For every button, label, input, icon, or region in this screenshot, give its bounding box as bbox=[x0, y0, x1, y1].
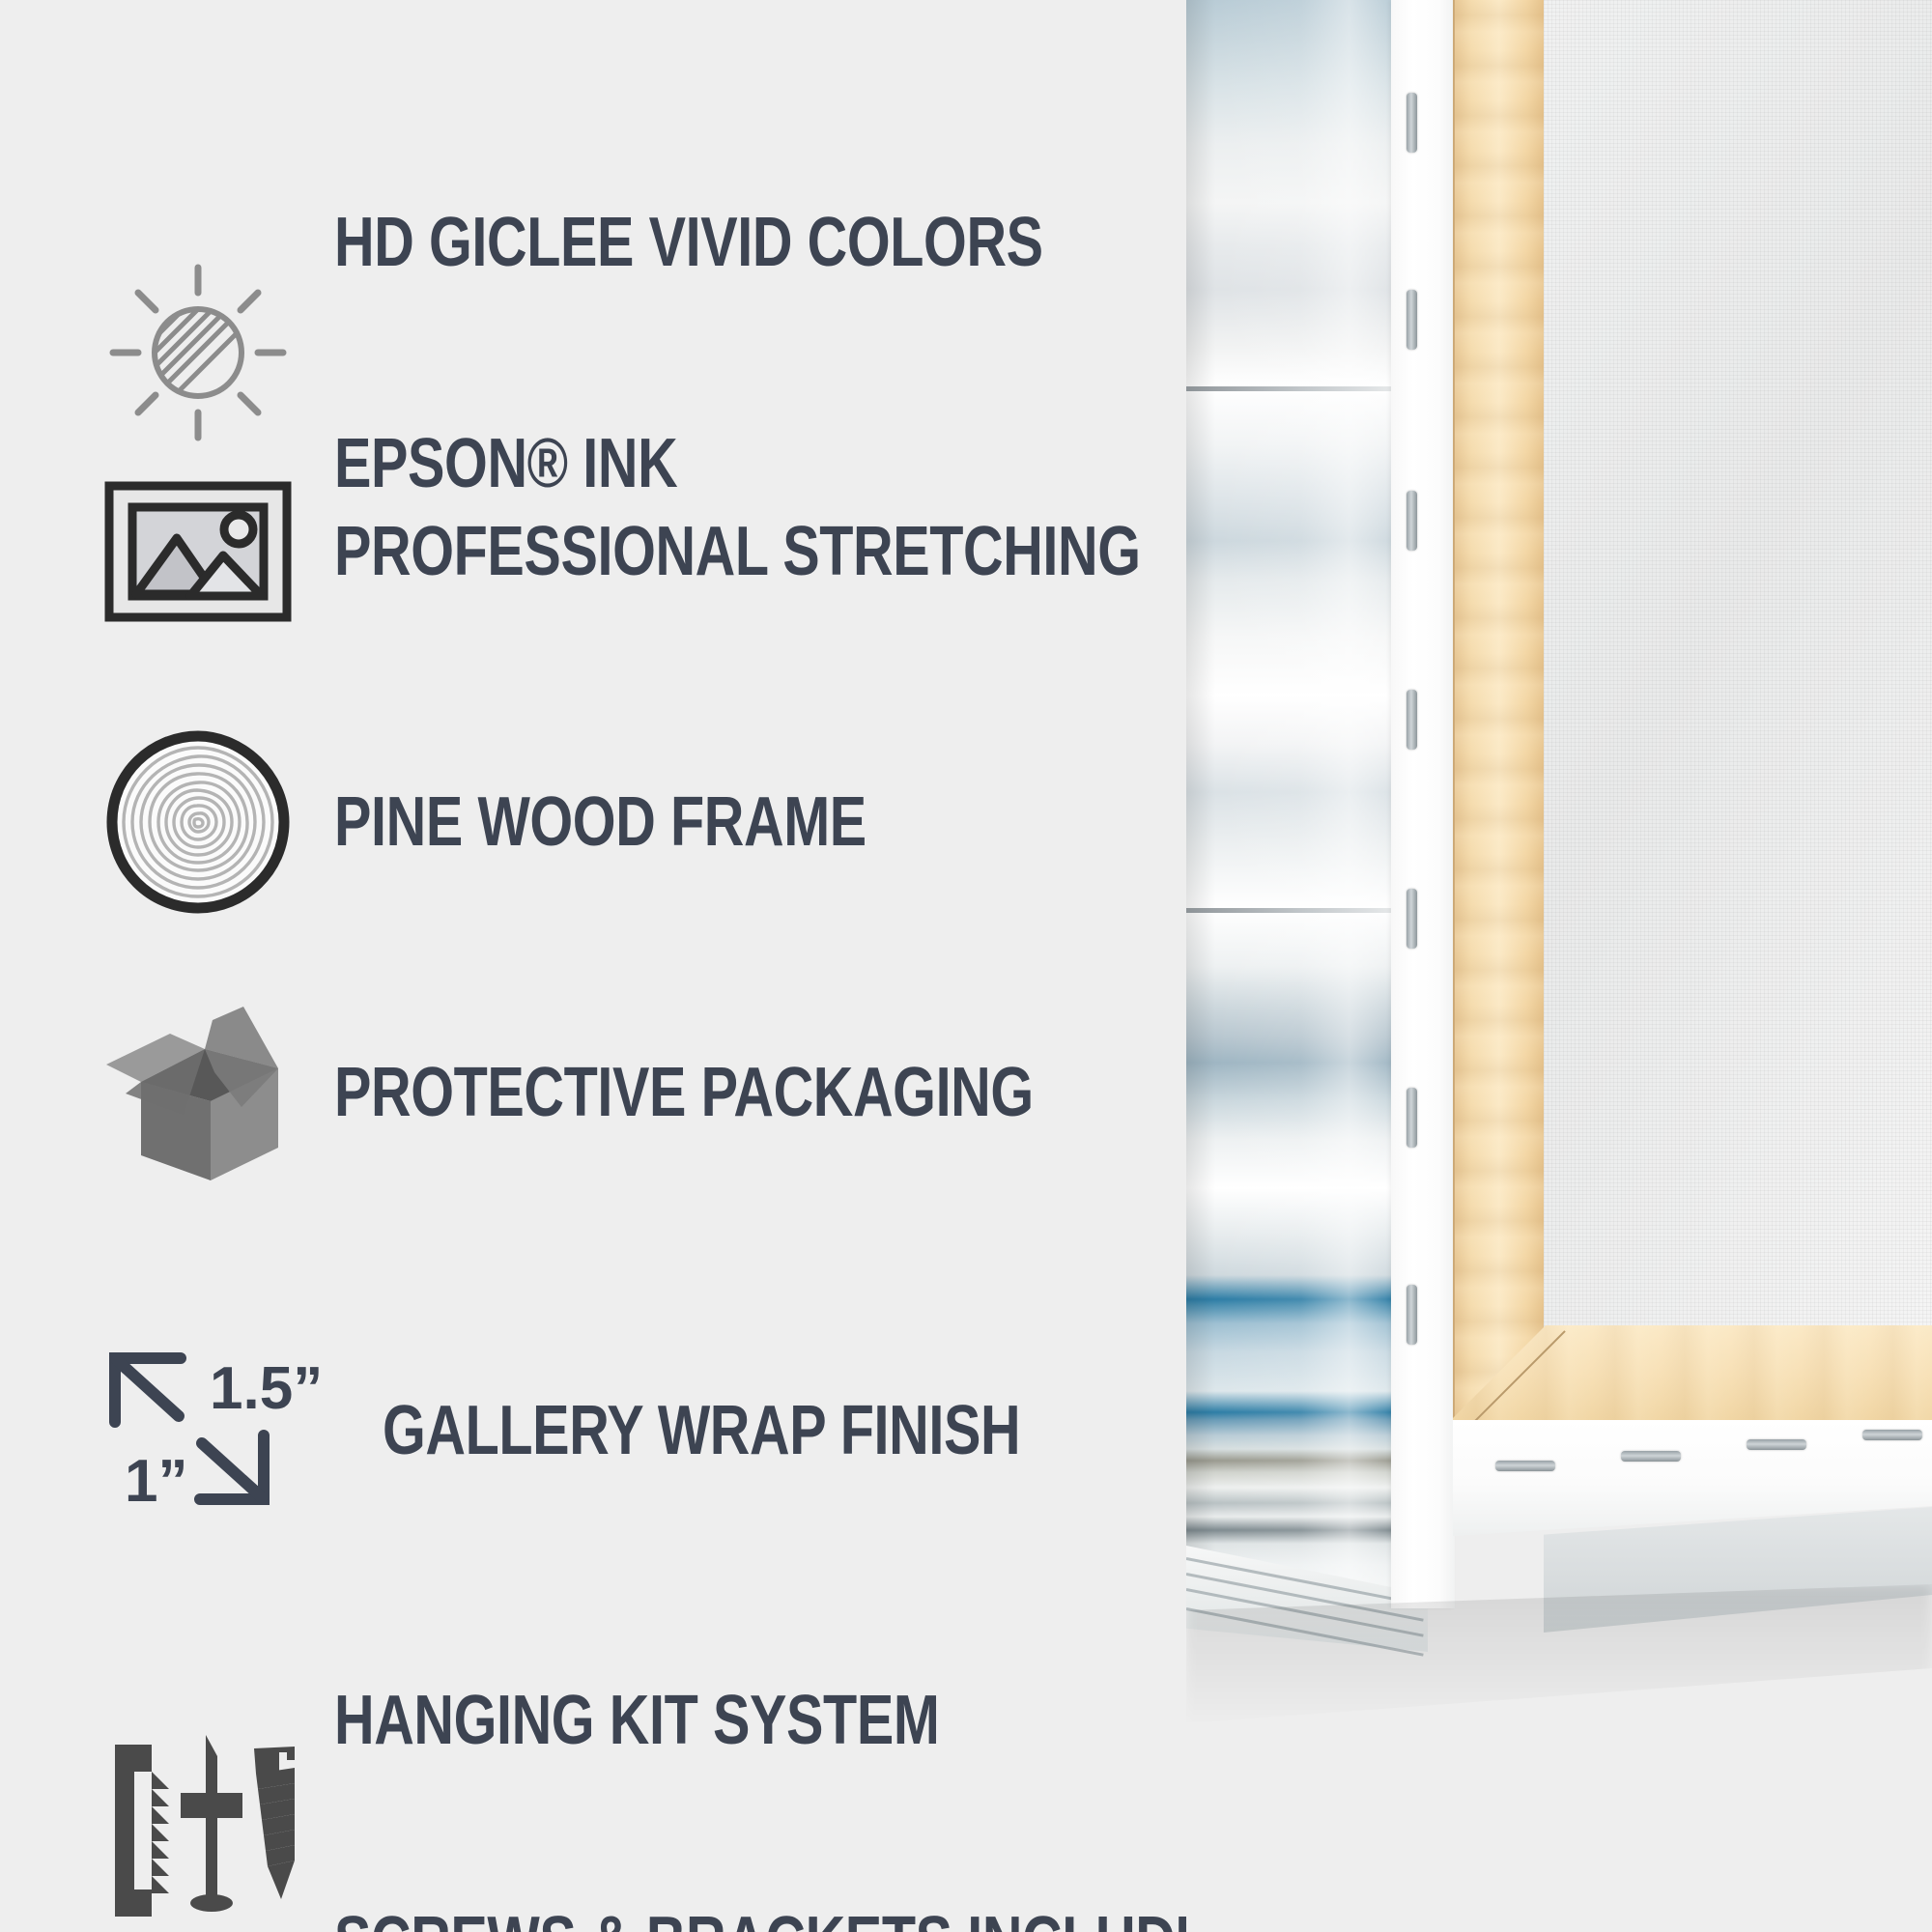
feature-label-line: PROFESSIONAL STRETCHING bbox=[334, 515, 1141, 588]
open-box-icon bbox=[97, 991, 299, 1194]
staple bbox=[1406, 491, 1417, 551]
feature-label-line: SCREWS & BRACKETS INCLUDED bbox=[334, 1905, 1252, 1932]
feature-item-protective-packaging: PROTECTIVE PACKAGING bbox=[97, 908, 1208, 1277]
feature-label: HANGING KIT SYSTEM SCREWS & BRACKETS INC… bbox=[334, 1536, 1252, 1932]
pine-stretcher-bar-vertical bbox=[1453, 0, 1548, 1418]
canvas-wrap-side bbox=[1391, 0, 1455, 1608]
staple bbox=[1406, 889, 1417, 949]
staple bbox=[1747, 1439, 1806, 1450]
staple bbox=[1406, 93, 1417, 153]
staple bbox=[1862, 1430, 1922, 1440]
staple bbox=[1406, 1088, 1417, 1148]
depth-arrows-icon: 1.5” 1” bbox=[97, 1329, 348, 1532]
staple bbox=[1621, 1451, 1681, 1462]
feature-label: PROTECTIVE PACKAGING bbox=[334, 908, 1034, 1277]
staple bbox=[1406, 690, 1417, 750]
infographic-canvas: HD GICLEE VIVID COLORS EPSON® INK PROFES… bbox=[0, 0, 1932, 1932]
artwork-bevel-line bbox=[1186, 908, 1395, 913]
feature-label-line: HD GICLEE VIVID COLORS bbox=[334, 206, 1043, 279]
staple bbox=[1495, 1461, 1555, 1471]
hanging-hardware-icon bbox=[97, 1729, 299, 1932]
artwork-bevel-line bbox=[1186, 386, 1395, 391]
feature-list: HD GICLEE VIVID COLORS EPSON® INK PROFES… bbox=[0, 0, 1198, 1932]
feature-label-line: HANGING KIT SYSTEM bbox=[334, 1684, 1252, 1757]
feature-label-line: PROTECTIVE PACKAGING bbox=[334, 1056, 1034, 1129]
artwork-wrapped-edge bbox=[1186, 0, 1395, 1589]
framed-picture-icon bbox=[97, 450, 299, 653]
depth-top-label: 1.5” bbox=[210, 1355, 323, 1422]
depth-bottom-label: 1” bbox=[125, 1448, 187, 1515]
wood-rings-icon bbox=[97, 721, 299, 923]
feature-label-line: GALLERY WRAP FINISH bbox=[383, 1394, 1020, 1467]
staple bbox=[1406, 290, 1417, 350]
staple bbox=[1406, 1285, 1417, 1345]
canvas-back-corner-photo bbox=[1186, 0, 1932, 1932]
feature-label-line: PINE WOOD FRAME bbox=[334, 785, 867, 859]
canvas-back-texture bbox=[1544, 0, 1932, 1333]
